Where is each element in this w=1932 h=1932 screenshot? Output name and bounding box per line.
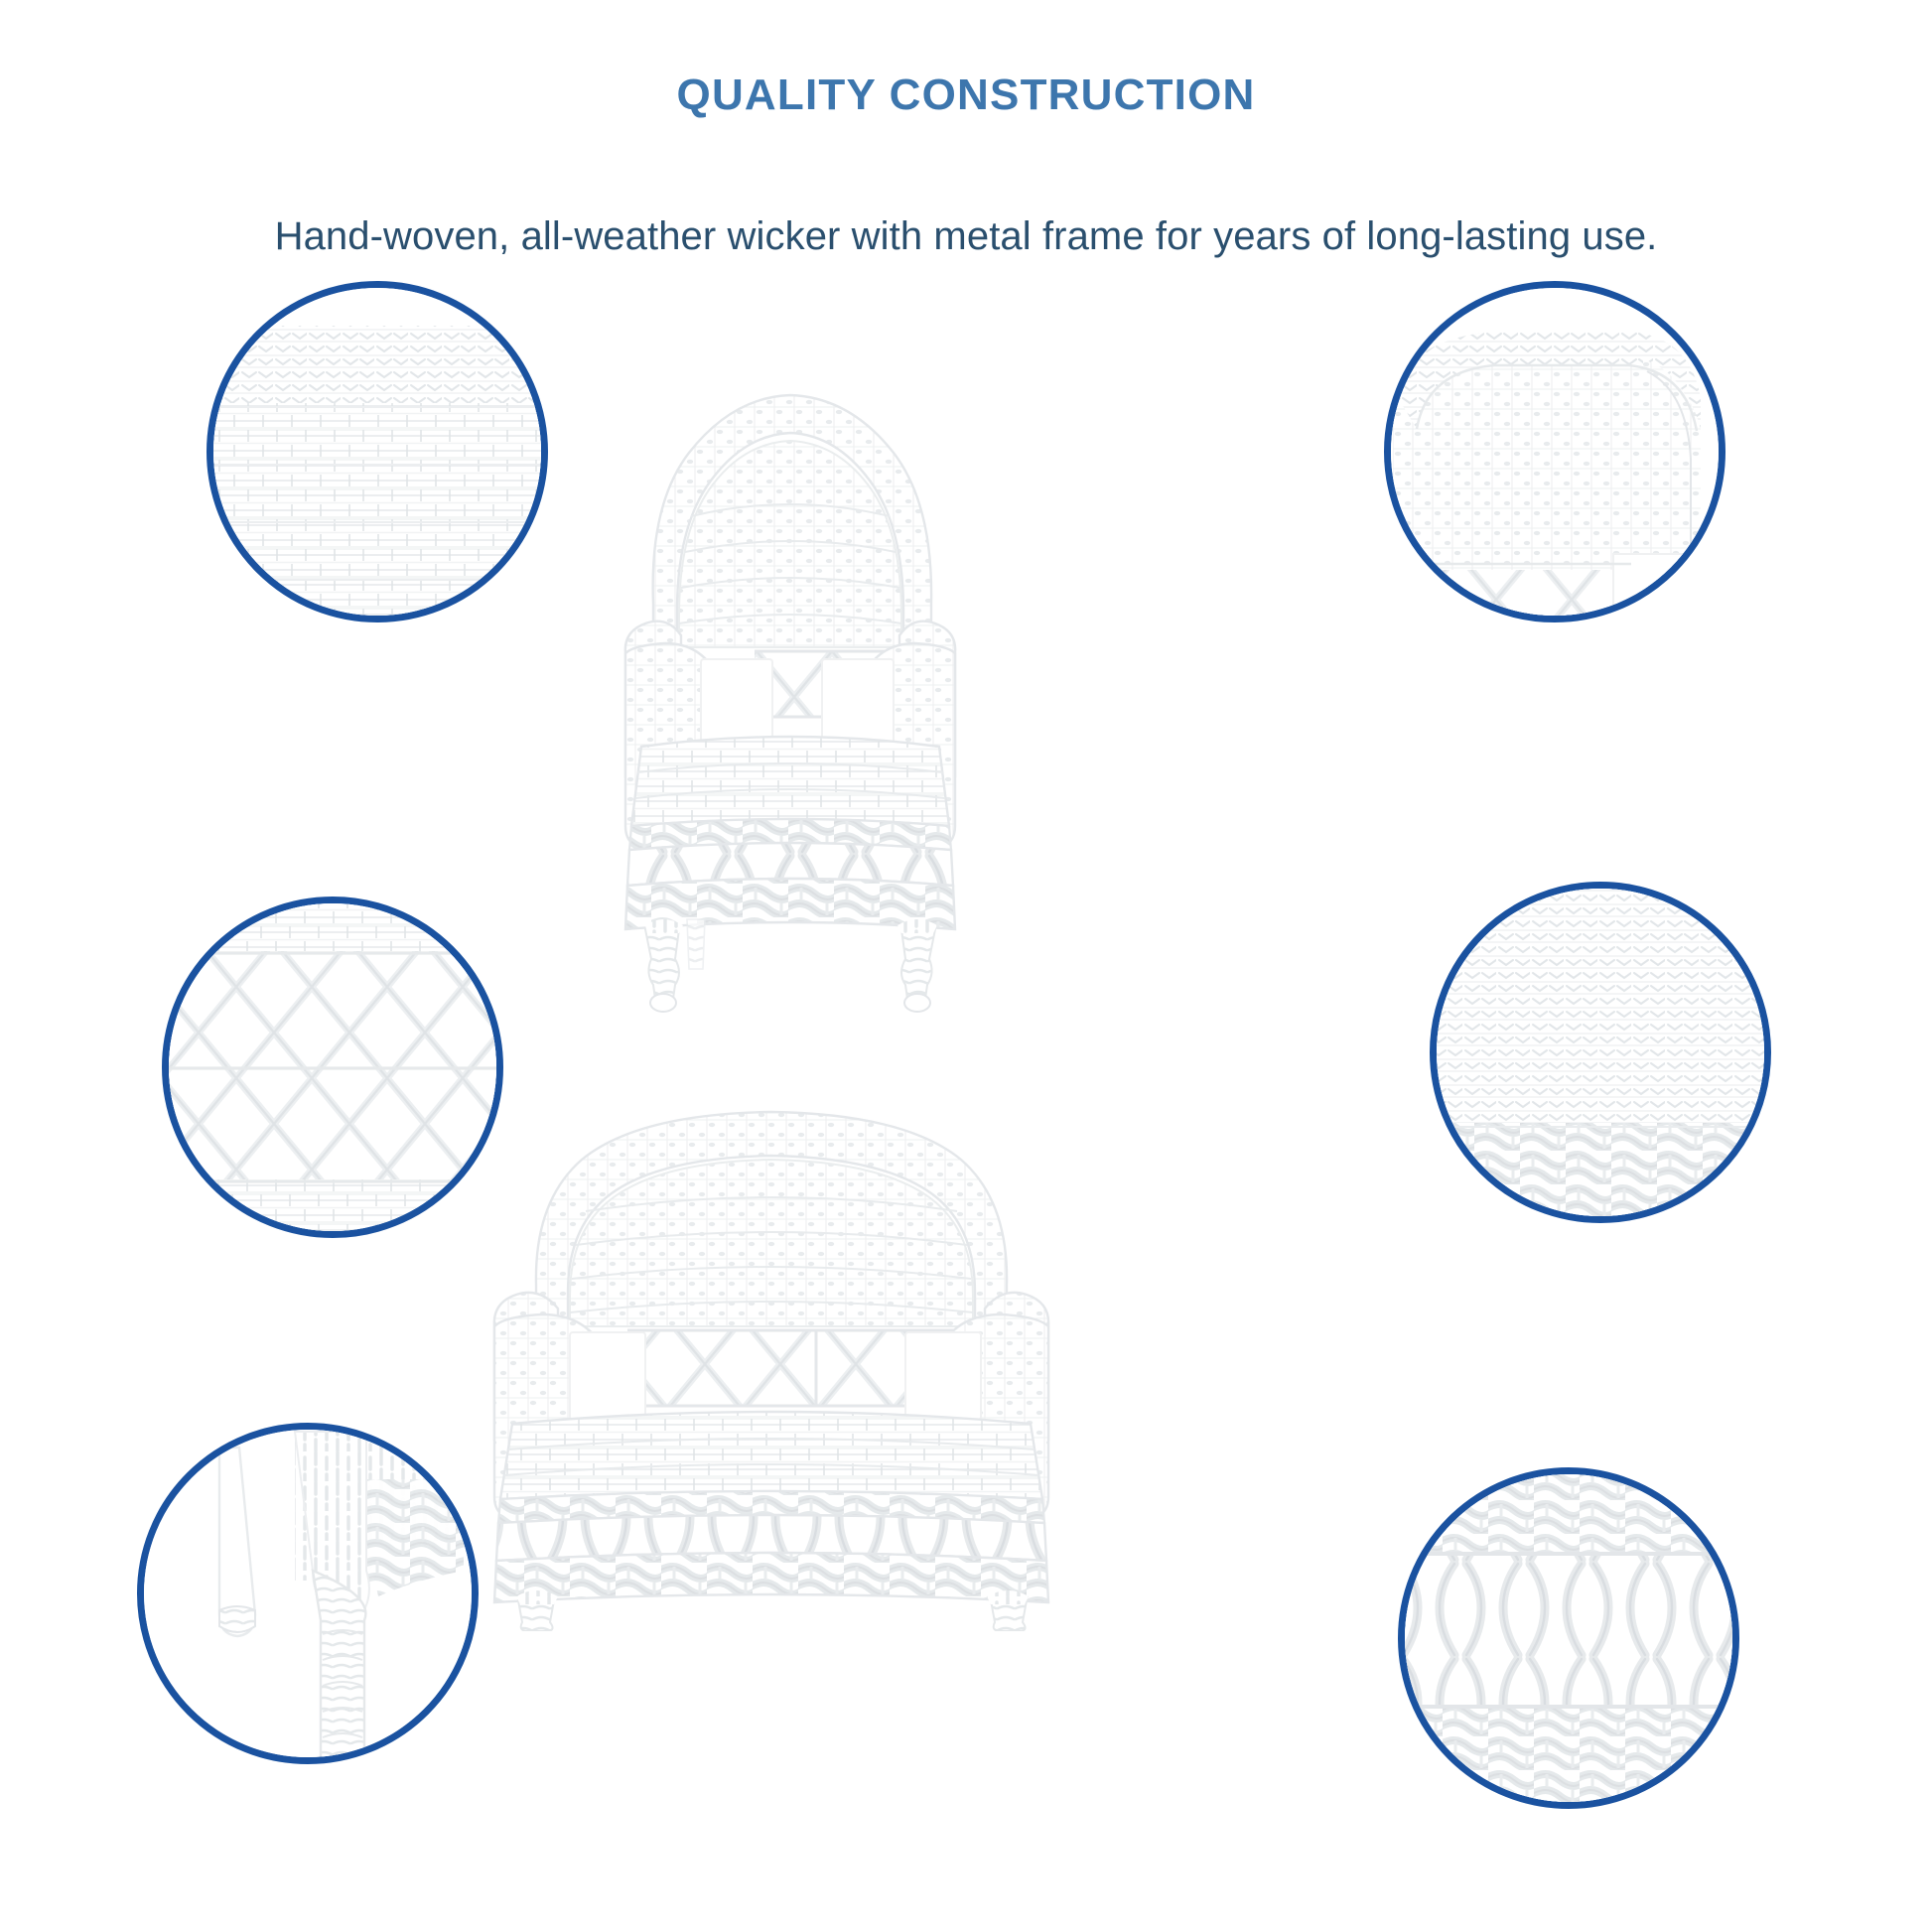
left-arm-cushion [570,1332,645,1420]
left-arm-cushion [701,659,772,743]
detail-circle-top-right [1384,281,1725,622]
detail-circle-bottom-right [1398,1467,1739,1809]
right-arm-cushion [822,659,894,743]
detail-circle-top-left [207,281,548,622]
chair-back-weave-texture [1384,281,1725,622]
armchair-illustration [606,377,973,1013]
wicker-loveseat-image [479,1090,1064,1631]
detail-circle-middle-right [1430,882,1771,1223]
diamond-lattice-texture [162,897,503,1238]
detail-circle-bottom-left [137,1423,479,1764]
right-arm-cushion [905,1332,981,1420]
infographic-canvas: QUALITY CONSTRUCTION Hand-woven, all-wea… [0,0,1932,1932]
x-lattice-band-texture [1398,1467,1739,1809]
leg-wrap-texture [137,1423,479,1764]
detail-circle-middle-left [162,897,503,1238]
loveseat-illustration [479,1090,1064,1631]
flat-basketweave-texture [207,281,548,622]
page-title: QUALITY CONSTRUCTION [0,71,1932,119]
page-subtitle: Hand-woven, all-weather wicker with meta… [0,213,1932,259]
wicker-armchair-image [606,377,973,1013]
vertical-rib-weave-texture [1430,882,1771,1223]
